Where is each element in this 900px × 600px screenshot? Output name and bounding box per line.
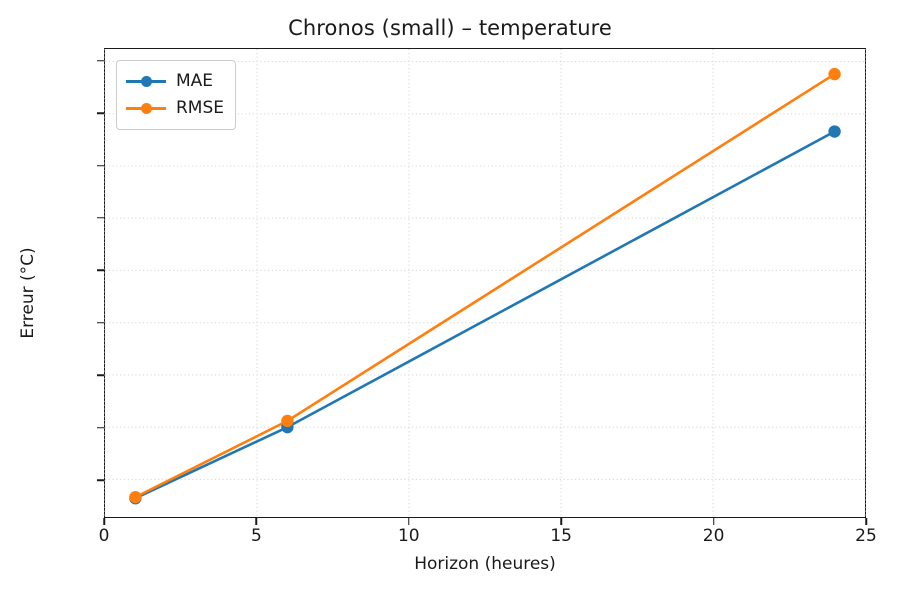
x-tick-mark <box>103 518 105 525</box>
legend-swatch-mae <box>126 73 166 91</box>
x-axis-label: Horizon (heures) <box>104 554 866 574</box>
legend-label: MAE <box>176 73 213 90</box>
legend-label: RMSE <box>176 100 224 117</box>
legend-marker-icon <box>141 76 152 87</box>
y-tick-mark <box>97 270 104 272</box>
y-tick-mark <box>97 112 104 114</box>
data-point-rmse-1 <box>129 491 141 503</box>
data-point-rmse-24 <box>828 68 840 80</box>
y-tick-mark <box>97 375 104 377</box>
y-tick-mark <box>97 217 104 219</box>
x-tick-mark <box>713 518 715 525</box>
x-tick-mark <box>256 518 258 525</box>
chart-figure: Chronos (small) – temperature 1.52.02.53… <box>0 0 900 600</box>
x-tick-label: 25 <box>855 526 877 546</box>
series-line-rmse <box>135 74 834 497</box>
x-tick-label: 15 <box>550 526 572 546</box>
y-tick-mark <box>97 322 104 324</box>
x-tick-mark <box>865 518 867 525</box>
x-tick-mark <box>408 518 410 525</box>
y-tick-mark <box>97 479 104 481</box>
y-tick-mark <box>97 427 104 429</box>
legend-item-mae[interactable]: MAE <box>126 68 224 95</box>
legend-item-rmse[interactable]: RMSE <box>126 95 224 122</box>
y-tick-mark <box>97 60 104 62</box>
legend-marker-icon <box>141 103 152 114</box>
y-tick-mark <box>97 165 104 167</box>
legend: MAERMSE <box>116 60 236 130</box>
data-point-mae-24 <box>828 125 840 137</box>
data-point-rmse-6 <box>281 415 293 427</box>
x-tick-label: 0 <box>99 526 110 546</box>
x-tick-mark <box>560 518 562 525</box>
chart-title: Chronos (small) – temperature <box>0 16 900 40</box>
x-tick-label: 20 <box>703 526 725 546</box>
x-tick-label: 10 <box>398 526 420 546</box>
legend-swatch-rmse <box>126 100 166 118</box>
y-axis-label: Erreur (°C) <box>18 193 38 393</box>
x-tick-label: 5 <box>251 526 262 546</box>
